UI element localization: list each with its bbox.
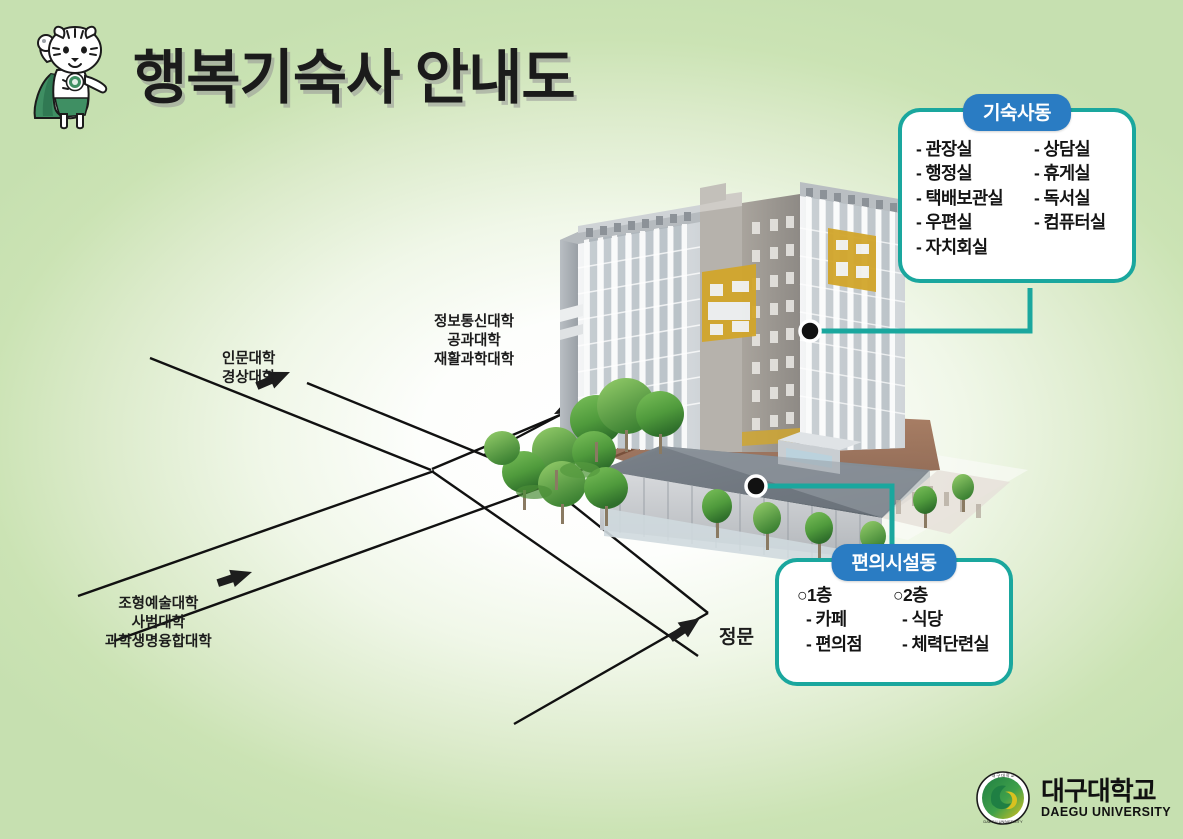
label-line-1: 조형예술대학 [105, 595, 212, 614]
label-line-2: 경상대학 [222, 369, 275, 388]
arrow-left-arts [215, 563, 255, 591]
university-logo: 대 구 대 학 교 DAEGU UNIVERSITY 대구대학교 DAEGU U… [975, 770, 1171, 826]
dormitory-column-right: - 상담실 - 휴게실 - 독서실 - 컴퓨터실 [1034, 138, 1106, 259]
callout-dormitory-header: 기숙사동 [963, 94, 1071, 131]
callout-convenience-header: 편의시설동 [832, 544, 957, 581]
dormitory-room: - 택배보관실 [916, 187, 1028, 210]
label-arts-colleges: 조형예술대학 사범대학 과학생명융합대학 [105, 595, 212, 652]
dormitory-room: - 휴게실 [1034, 162, 1106, 185]
dormitory-room: - 상담실 [1034, 138, 1106, 161]
marker-convenience [746, 476, 766, 496]
label-line-1: 인문대학 [222, 350, 275, 369]
marker-dormitory [800, 321, 820, 341]
floor-title: ○1층 [797, 584, 883, 607]
label-ict-colleges: 정보통신대학 공과대학 재활과학대학 [434, 313, 514, 370]
university-name-en: DAEGU UNIVERSITY [1041, 806, 1171, 819]
callout-convenience: 편의시설동 ○1층 - 카페 - 편의점 ○2층 - 식당 - 체력단련실 [775, 558, 1013, 686]
university-logo-text: 대구대학교 DAEGU UNIVERSITY [1041, 778, 1171, 819]
convenience-floor-1: ○1층 - 카페 - 편의점 [797, 584, 883, 656]
svg-text:대 구 대 학 교: 대 구 대 학 교 [992, 772, 1015, 778]
tiger-mascot-icon [17, 22, 121, 134]
floor-title: ○2층 [893, 584, 989, 607]
convenience-item: - 체력단련실 [893, 633, 989, 656]
dormitory-room: - 우편실 [916, 211, 1028, 234]
dormitory-room: - 독서실 [1034, 187, 1106, 210]
convenience-floor-2: ○2층 - 식당 - 체력단련실 [893, 584, 989, 656]
callout-dormitory-body: - 관장실 - 행정실 - 택배보관실 - 우편실 - 자치회실 - 상담실 -… [902, 112, 1132, 259]
label-line-3: 재활과학대학 [434, 351, 514, 370]
convenience-item: - 식당 [893, 608, 989, 631]
dormitory-room: - 행정실 [916, 162, 1028, 185]
label-line-1: 정보통신대학 [434, 313, 514, 332]
label-line-3: 과학생명융합대학 [105, 633, 212, 652]
tower-far-right-wing [800, 182, 905, 452]
svg-text:DAEGU UNIVERSITY: DAEGU UNIVERSITY [983, 819, 1023, 824]
poster-header: 행복기숙사 안내도 [17, 22, 575, 134]
map-poster: 행복기숙사 안내도 인문대학 경상대학 정보통신대학 공과대학 재활과학대학 조… [0, 0, 1183, 839]
daegu-university-emblem-icon: 대 구 대 학 교 DAEGU UNIVERSITY [975, 770, 1031, 826]
callout-dormitory: 기숙사동 - 관장실 - 행정실 - 택배보관실 - 우편실 - 자치회실 - … [898, 108, 1136, 283]
label-line-2: 사범대학 [105, 614, 212, 633]
dormitory-column-left: - 관장실 - 행정실 - 택배보관실 - 우편실 - 자치회실 [916, 138, 1028, 259]
dormitory-room: - 컴퓨터실 [1034, 211, 1106, 234]
university-name-ko: 대구대학교 [1041, 778, 1171, 804]
dormitory-room: - 자치회실 [916, 236, 1028, 259]
label-humanities-colleges: 인문대학 경상대학 [222, 350, 275, 388]
convenience-item: - 카페 [797, 608, 883, 631]
page-title: 행복기숙사 안내도 [133, 49, 575, 108]
convenience-item: - 편의점 [797, 633, 883, 656]
label-line-2: 공과대학 [434, 332, 514, 351]
dormitory-room: - 관장실 [916, 138, 1028, 161]
label-main-gate: 정문 [719, 625, 754, 650]
